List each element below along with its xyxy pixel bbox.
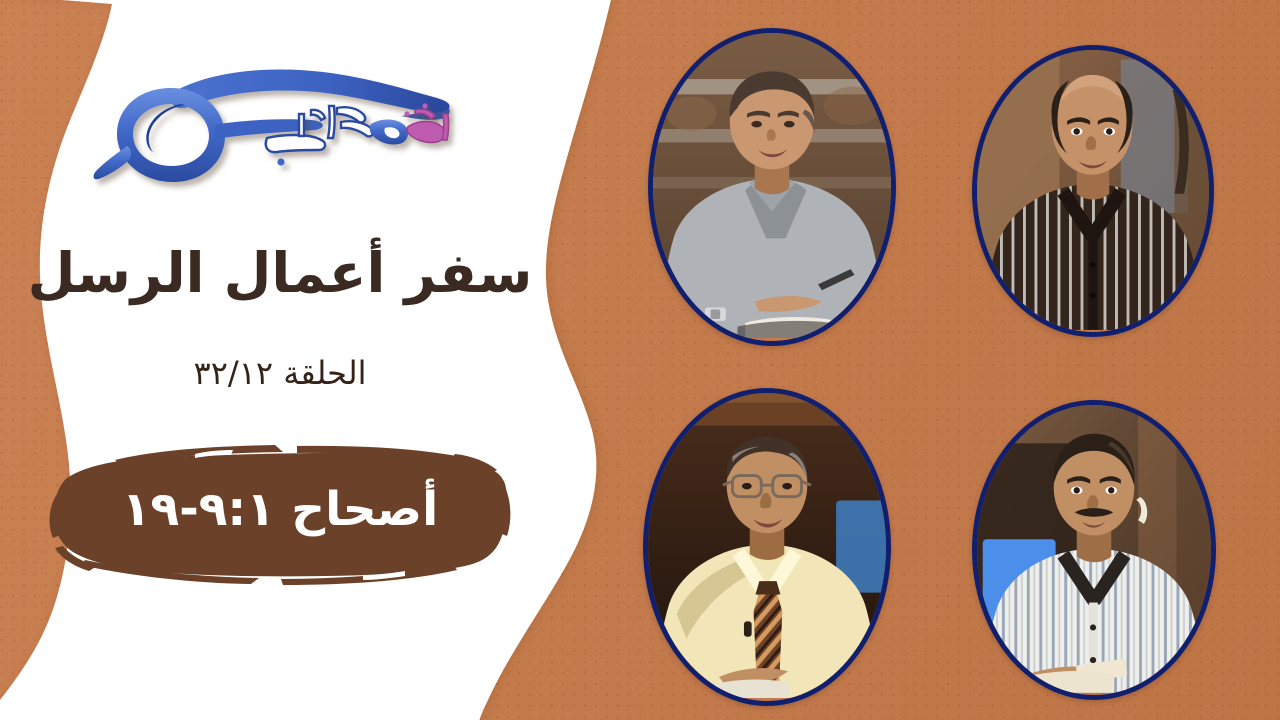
scripture-reference-text: أصحاح ٩:١-١٩: [45, 434, 515, 589]
portrait-panelist-3[interactable]: رجل بنظارة وقميص كريمي وربطة عنق مخططة: [643, 388, 891, 706]
left-info-panel: فاحصين الكتب سفر أعمال الرسل الحلقة ٣٢/١…: [0, 0, 560, 720]
logo-calligraphy: [266, 103, 449, 165]
portrait-panelist-1[interactable]: رجل بقميص رمادي يكتب على مكتب: [648, 28, 896, 346]
episode-label: الحلقة ٣٢/١٢: [194, 354, 367, 392]
scripture-reference-badge: أصحاح ٩:١-١٩: [45, 434, 515, 589]
program-logo[interactable]: فاحصين الكتب: [85, 62, 475, 197]
portrait-panelist-4[interactable]: رجل بشارب وقميص مخطط أبيض وأزرق: [972, 400, 1216, 700]
page-title: سفر أعمال الرسل: [28, 243, 533, 304]
portrait-panelist-2[interactable]: رجل أصلع بقميص مخطط بني غامق: [972, 45, 1214, 337]
